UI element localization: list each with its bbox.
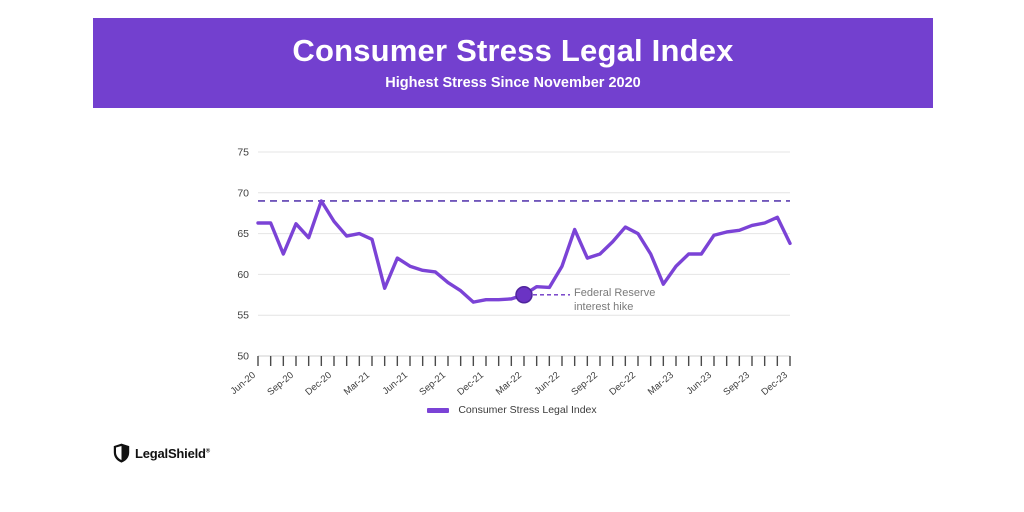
x-axis-tick-label: Jun-22 [533,370,562,397]
x-axis-tick-label: Mar-22 [494,370,524,398]
y-axis-tick-label: 50 [237,351,249,363]
y-axis-labels-group: 505560657075 [237,147,249,363]
annotation-text-line2: interest hike [574,301,633,313]
gridlines-group [258,152,790,356]
shield-icon [113,443,130,463]
x-axis-tick-label: Dec-20 [303,370,334,398]
x-axis-tick-label: Jun-21 [381,370,410,397]
x-axis-tick-label: Sep-20 [265,370,296,398]
x-axis-tick-label: Mar-21 [342,370,372,398]
x-axis-ticks-group [258,356,790,366]
y-axis-tick-label: 65 [237,228,249,240]
x-axis-labels-group: Jun-20Sep-20Dec-20Mar-21Jun-21Sep-21Dec-… [229,370,790,398]
y-axis-tick-label: 75 [237,147,249,159]
x-axis-tick-label: Mar-23 [646,370,676,398]
x-axis-tick-label: Sep-22 [569,370,600,398]
x-axis-tick-label: Jun-20 [229,370,258,397]
trademark-symbol: ® [206,448,210,454]
x-axis-tick-label: Dec-22 [607,370,638,398]
x-axis-tick-label: Jun-23 [685,370,714,397]
y-axis-tick-label: 60 [237,269,249,281]
chart-legend: Consumer Stress Legal Index [0,404,1024,416]
header-banner: Consumer Stress Legal Index Highest Stre… [93,18,933,108]
y-axis-tick-label: 70 [237,187,249,199]
annotation-text-line1: Federal Reserve [574,287,655,299]
x-axis-tick-label: Dec-21 [455,370,486,398]
highlight-point-marker[interactable] [516,287,532,303]
chart-page: Consumer Stress Legal Index Highest Stre… [0,0,1024,512]
x-axis-tick-label: Sep-23 [721,370,752,398]
x-axis-tick-label: Sep-21 [417,370,448,398]
page-subtitle: Highest Stress Since November 2020 [385,76,640,92]
page-title: Consumer Stress Legal Index [292,34,733,68]
annotation-group: Federal Reserveinterest hike [516,287,655,313]
logo-wordmark: LegalShield® [135,446,210,461]
legend-item-label: Consumer Stress Legal Index [458,404,596,416]
legend-swatch-icon [427,408,449,413]
y-axis-tick-label: 55 [237,310,249,322]
legalshield-logo: LegalShield® [113,443,210,463]
x-axis-tick-label: Dec-23 [759,370,790,398]
